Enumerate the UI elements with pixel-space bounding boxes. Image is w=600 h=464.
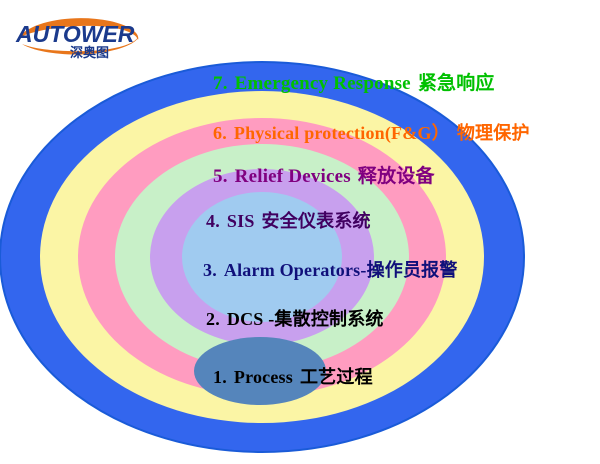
- layer-5-number: 5.: [213, 166, 228, 187]
- layer-label-relief-devices: 5.Relief Devices释放设备: [213, 167, 435, 186]
- layer-4-label-en: SIS: [227, 211, 255, 231]
- layers-of-protection-diagram: [0, 0, 600, 464]
- layer-2-number: 2.: [206, 309, 220, 329]
- layer-4-label-cn: 安全仪表系统: [262, 211, 371, 232]
- layer-label-emergency-response: 7.Emergency Response紧急响应: [213, 74, 495, 93]
- layer-7-number: 7.: [213, 73, 228, 94]
- layer-6-label-en: Physical protection(F&G）: [234, 123, 450, 143]
- layer-7-label-cn: 紧急响应: [418, 72, 495, 94]
- layer-label-sis: 4.SIS安全仪表系统: [206, 212, 371, 231]
- layer-4-number: 4.: [206, 211, 220, 231]
- layer-3-label-cn: 操作员报警: [367, 260, 458, 281]
- layer-label-physical-protection: 6.Physical protection(F&G）物理保护: [213, 124, 530, 143]
- layer-5-label-en: Relief Devices: [235, 166, 351, 187]
- layer-5-label-cn: 释放设备: [358, 165, 435, 187]
- layer-7-label-en: Emergency Response: [235, 73, 411, 94]
- layer-2-label-en: DCS -: [227, 309, 275, 329]
- layer-label-dcs: 2.DCS -集散控制系统: [206, 310, 384, 329]
- layer-3-label-en: Alarm Operators-: [224, 260, 367, 280]
- layer-1-label-en: Process: [234, 367, 293, 387]
- layer-3-number: 3.: [203, 260, 217, 280]
- layer-label-process: 1.Process工艺过程: [213, 368, 373, 387]
- layer-1-number: 1.: [213, 367, 227, 387]
- layer-6-number: 6.: [213, 123, 227, 143]
- diagram-svg: [0, 0, 600, 464]
- layer-2-label-cn: 集散控制系统: [274, 309, 383, 330]
- layer-1-label-cn: 工艺过程: [300, 367, 373, 388]
- layer-6-label-cn: 物理保护: [457, 123, 530, 144]
- layer-label-alarm-operators: 3.Alarm Operators-操作员报警: [203, 261, 458, 280]
